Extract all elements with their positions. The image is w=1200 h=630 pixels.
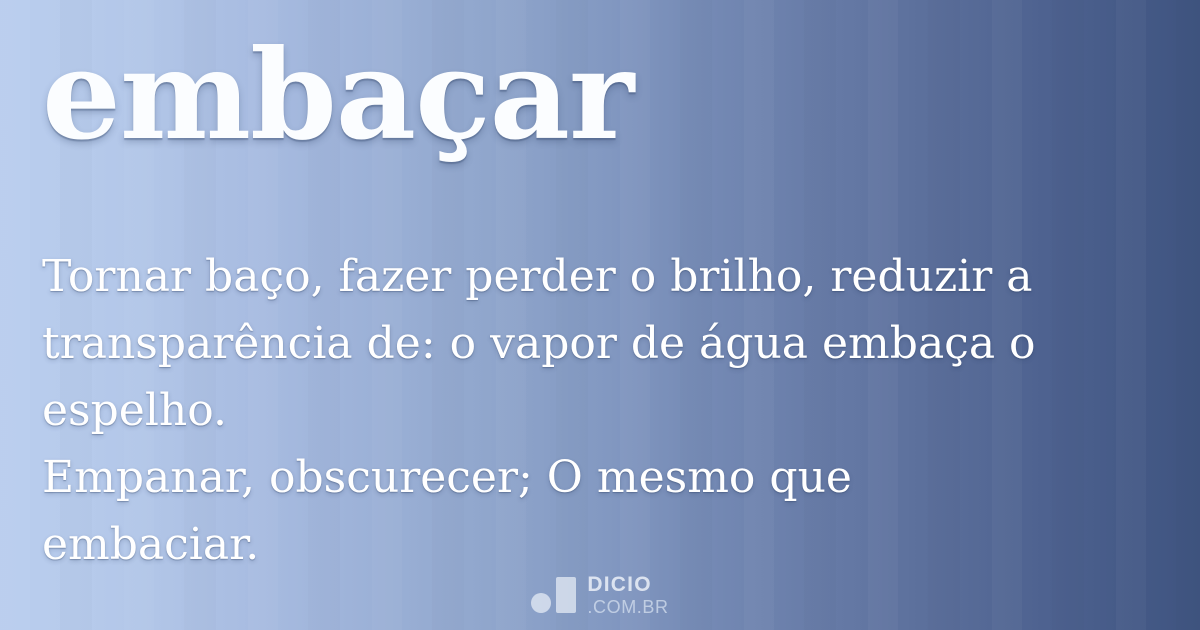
- brand-wordmark: DICIO .COM.BR: [587, 574, 668, 616]
- definition-list: Tornar baço, fazer perder o brilho, redu…: [42, 243, 1158, 578]
- brand-name: DICIO: [587, 574, 668, 595]
- logo-circle-icon: [531, 593, 551, 613]
- definition-item: Empanar, obscurecer; O mesmo que embacia…: [42, 444, 1072, 578]
- definition-item: Tornar baço, fazer perder o brilho, redu…: [42, 243, 1072, 444]
- logo-bar-icon: [556, 577, 576, 613]
- share-card: embaçar Tornar baço, fazer perder o bril…: [0, 0, 1200, 630]
- page-title: embaçar: [42, 34, 633, 158]
- logo-mark-icon: [531, 577, 576, 613]
- brand-logo: DICIO .COM.BR: [0, 574, 1200, 616]
- card-content: embaçar Tornar baço, fazer perder o bril…: [0, 0, 1200, 630]
- brand-tld: .COM.BR: [587, 598, 668, 616]
